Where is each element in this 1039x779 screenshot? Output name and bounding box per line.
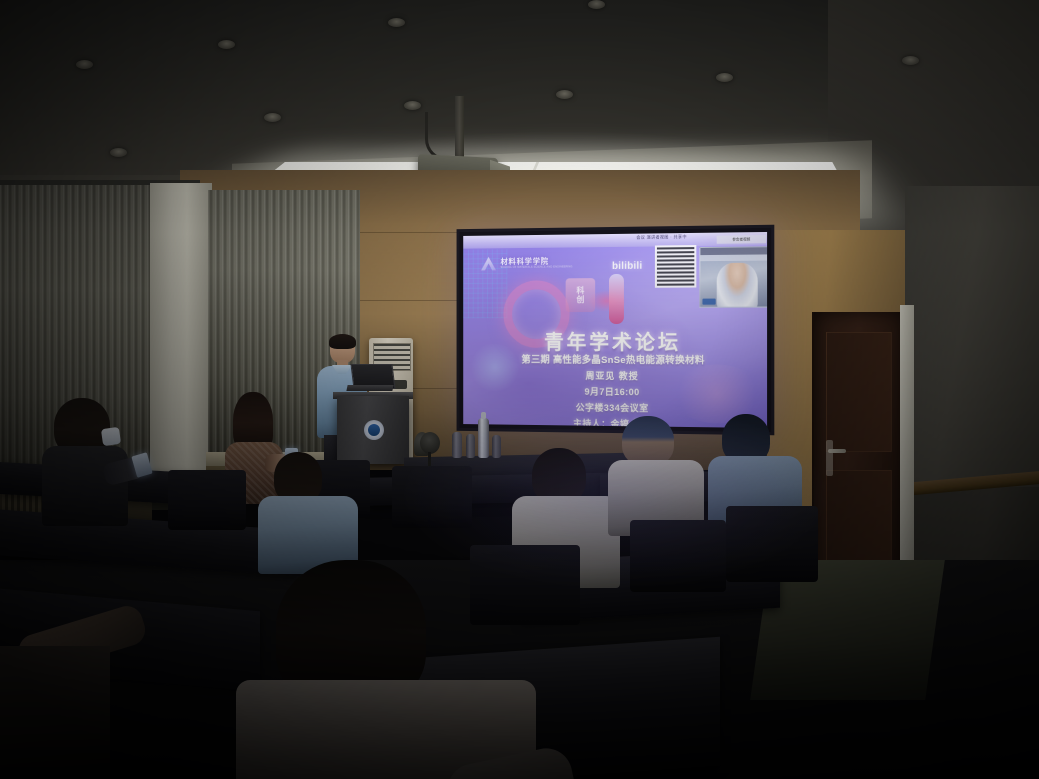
remote-participant-avatar <box>717 263 758 308</box>
downlight-icon <box>556 90 573 99</box>
projection-screen: 会议 演讲者视图 · 共享中 材料科学学院 SCHOOL OF MATERIAL… <box>463 232 767 428</box>
audience-head-with-cap <box>622 416 674 466</box>
video-window-toolbar <box>700 254 767 261</box>
chair <box>630 520 726 592</box>
room-door[interactable] <box>812 312 904 599</box>
face-mask-icon <box>101 427 121 446</box>
qr-code-pattern <box>657 247 694 286</box>
downlight-icon <box>110 148 127 157</box>
audience-masked-phone <box>42 398 162 538</box>
downlight-icon <box>76 60 93 69</box>
slide-org-logo: 材料科学学院 SCHOOL OF MATERIALS SCIENCE AND E… <box>480 255 572 271</box>
slide-org-subtitle: SCHOOL OF MATERIALS SCIENCE AND ENGINEER… <box>501 266 573 269</box>
chair <box>168 470 246 530</box>
audience-far-left-writing <box>0 646 110 779</box>
chair <box>726 506 818 582</box>
recording-camera <box>420 432 440 454</box>
door-panel-upper <box>826 332 892 452</box>
downlight-icon <box>902 56 919 65</box>
downlight-icon <box>716 73 733 82</box>
slide-top-bar-text: 会议 演讲者视图 · 共享中 <box>636 234 687 241</box>
slide-org-name: 材料科学学院 <box>501 257 573 265</box>
slide-speaker: 周亚见 教授 <box>463 368 767 383</box>
slide-datetime: 9月7日16:00 <box>463 384 767 400</box>
video-name-tag <box>702 299 715 305</box>
door-handle-icon[interactable] <box>828 449 846 453</box>
chair <box>392 466 472 528</box>
video-conference-window <box>699 246 767 308</box>
badge-char-1: 科 <box>576 287 584 295</box>
downlight-icon <box>588 0 605 9</box>
thermos-bottle <box>478 418 489 458</box>
tumbler <box>466 434 475 458</box>
tumbler <box>452 432 462 458</box>
downlight-icon <box>264 113 281 122</box>
video-window-label: 参会者视频 <box>717 235 766 244</box>
downlight-icon <box>404 101 421 110</box>
bilibili-watermark: bilibili <box>612 261 642 272</box>
projection-screen-frame: 会议 演讲者视图 · 共享中 材料科学学院 SCHOOL OF MATERIAL… <box>457 225 775 436</box>
downlight-icon <box>218 40 235 49</box>
badge-char-2: 创 <box>576 296 584 304</box>
presenter-laptop-base <box>346 385 393 391</box>
slide-topic: 第三期 高性能多晶SnSe热电能源转换材料 <box>463 352 767 367</box>
lectern-emblem-inner <box>368 424 380 436</box>
university-logo-icon <box>480 256 496 271</box>
projector-mount-pole <box>455 96 464 160</box>
tumbler <box>492 435 501 458</box>
door-lock-plate <box>826 440 833 476</box>
audience-torso <box>42 446 128 526</box>
downlight-icon <box>388 18 405 27</box>
slide-badge-graphic: 科 创 <box>566 278 596 312</box>
audience-foreground <box>236 560 556 779</box>
qr-code-icon <box>655 245 696 288</box>
lecture-hall-photo: 会议 演讲者视图 · 共享中 材料科学学院 SCHOOL OF MATERIAL… <box>0 0 1039 779</box>
slide-tube-graphic <box>609 274 624 324</box>
lectern-emblem-icon <box>364 420 384 440</box>
presenter-hair <box>329 334 356 349</box>
